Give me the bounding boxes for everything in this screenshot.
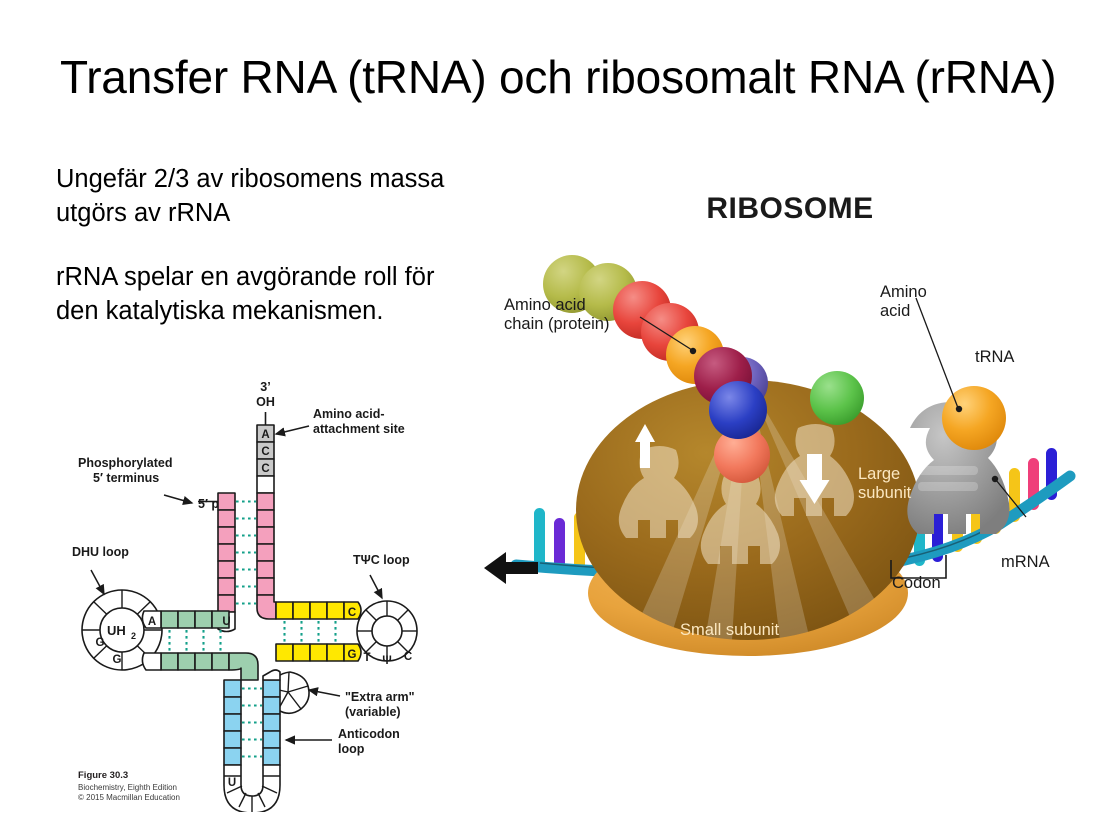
base-c1-acceptor: C <box>261 446 269 458</box>
dhu-bottom-connector <box>142 653 161 670</box>
phosphorylated-label-line2: 5′ terminus <box>93 471 159 485</box>
tpsic-stem-top <box>276 602 344 619</box>
base-c3-tpsic: C <box>404 651 412 663</box>
base-g1-dhu: G <box>96 637 105 649</box>
dhu-stem-top <box>161 611 212 628</box>
base-u-junction: U <box>222 616 230 628</box>
dhu-loop-label: DHU loop <box>72 545 129 559</box>
trna-diagram-svg: A C C U A G G C G T Ψ C U UH 2 <box>60 372 480 812</box>
phosphorylated-label-line1: Phosphorylated <box>78 456 172 470</box>
acceptor-stem-right <box>257 493 274 595</box>
base-g2-dhu: G <box>113 654 122 666</box>
body-paragraph-1: Ungefär 2/3 av ribosomens massa utgörs a… <box>56 163 476 230</box>
chain-sphere-7 <box>709 381 767 439</box>
amino-acid-chain-label: Amino acid chain (protein) <box>504 296 609 335</box>
amino-acid-attachment-label-line1: Amino acid- <box>313 407 385 421</box>
page-title: Transfer RNA (tRNA) och ribosomalt RNA (… <box>60 52 1060 103</box>
acceptor-stem-left <box>218 493 235 612</box>
tpsic-stem-bottom <box>276 644 344 661</box>
dhu-stem-bottom <box>161 653 229 670</box>
figure-source: Biochemistry, Eighth Edition <box>78 783 180 794</box>
trna-label: tRNA <box>975 348 1014 367</box>
dhu-to-anticodon-elbow <box>229 653 258 680</box>
base-t-tpsic: T <box>363 652 370 664</box>
large-subunit-label: Large subunit <box>858 465 911 504</box>
anticodon-stem-right <box>263 680 280 765</box>
acceptor-stem-elbow <box>257 595 276 619</box>
trna-cloverleaf-figure: A C C U A G G C G T Ψ C U UH 2 <box>60 372 480 812</box>
base-c-tpsic: C <box>348 607 356 619</box>
codon-label: Codon <box>892 574 941 593</box>
mrna-label: mRNA <box>1001 553 1050 572</box>
figure-credit: Figure 30.3 Biochemistry, Eighth Edition… <box>78 770 180 804</box>
anticodon-hbonds <box>242 689 262 757</box>
anticodon-loop-label-line1: Anticodon <box>338 727 400 741</box>
amino-acid-label: Amino acid <box>880 283 927 322</box>
extra-arm-label-line2: (variable) <box>345 705 401 719</box>
base-psi-tpsic: Ψ <box>382 655 391 667</box>
acceptor-hbonds <box>236 502 256 604</box>
svg-text:2: 2 <box>131 631 136 641</box>
anticodon-loop-label-line2: loop <box>338 742 365 756</box>
trna-text-labels: 3’ OH Amino acid- attachment site Phosph… <box>72 380 415 756</box>
ribosome-diagram-svg <box>480 180 1100 670</box>
base-c2-acceptor: C <box>261 463 269 475</box>
oh-label: OH <box>256 395 275 409</box>
five-prime-p-label: 5′ p <box>198 497 219 511</box>
dhu-hbonds <box>170 630 221 651</box>
three-prime-label: 3’ <box>260 380 270 394</box>
green-sphere <box>810 371 864 425</box>
small-subunit-label: Small subunit <box>680 621 779 640</box>
mrna-direction-arrow <box>484 552 538 584</box>
extra-arm-label-line1: "Extra arm" <box>345 690 415 704</box>
amino-acid-attachment-label-line2: attachment site <box>313 422 405 436</box>
trna-amino-acid-sphere <box>942 386 1006 450</box>
tpsic-hbonds <box>285 621 336 642</box>
body-paragraph-2: rRNA spelar en avgörande roll för den ka… <box>56 261 476 328</box>
slide-body-text: Ungefär 2/3 av ribosomens massa utgörs a… <box>56 163 476 329</box>
extra-arm-connector <box>263 670 280 680</box>
anticodon-stem-left <box>224 680 241 765</box>
ribosome-figure: RIBOSOME <box>480 180 1100 670</box>
figure-copyright: © 2015 Macmillan Education <box>78 793 180 804</box>
base-a-acceptor: A <box>261 429 269 441</box>
svg-text:UH: UH <box>107 623 126 638</box>
base-u-anticodon: U <box>228 777 236 789</box>
tpsic-loop-label: TΨC loop <box>353 553 410 567</box>
figure-number: Figure 30.3 <box>78 770 180 783</box>
base-g-tpsic: G <box>348 649 357 661</box>
base-a-dhu: A <box>148 616 156 628</box>
